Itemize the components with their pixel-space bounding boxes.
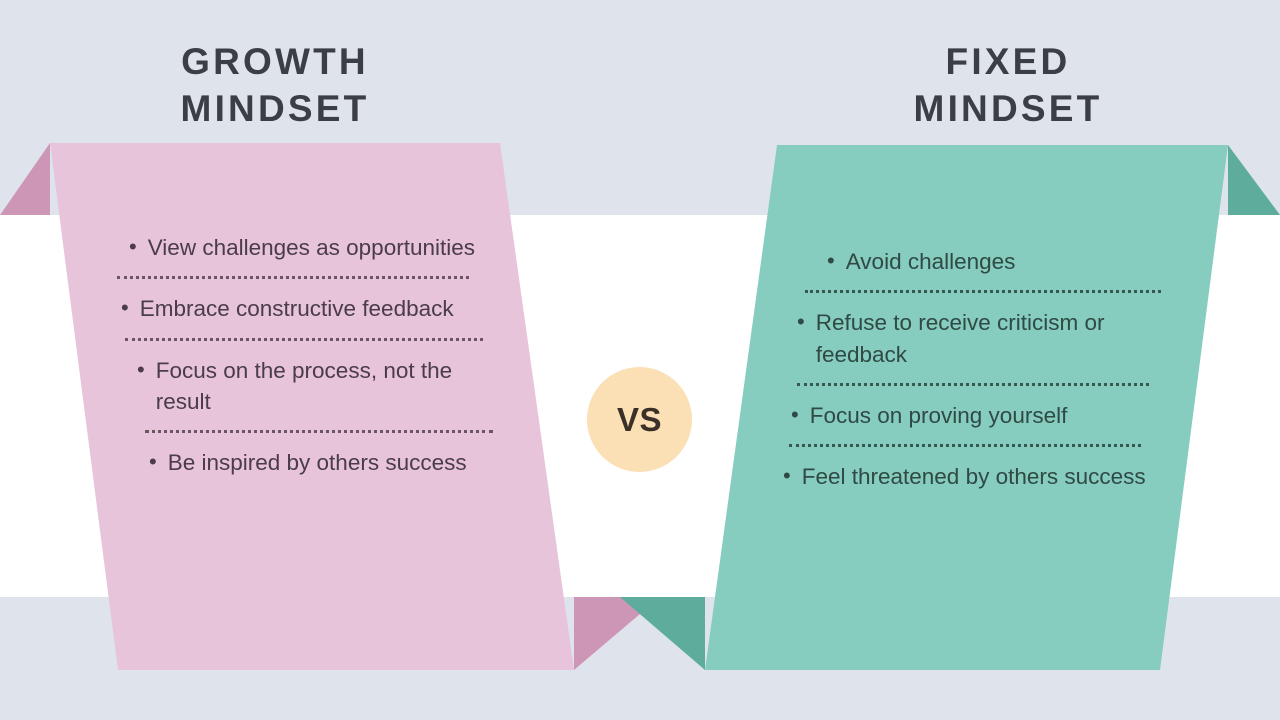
bullet-icon: • [827,246,835,277]
list-separator [789,444,1141,447]
list-item-text: Refuse to receive criticism or feedback [816,307,1173,370]
list-separator [145,430,493,433]
infographic-canvas: GROWTH MINDSET FIXED MINDSET • View chal… [0,0,1280,720]
list-separator [805,290,1161,293]
list-item-text: Feel threatened by others success [802,461,1173,492]
vs-label: VS [617,401,662,439]
list-item-text: View challenges as opportunities [148,232,493,263]
list-item: • Refuse to receive criticism or feedbac… [783,307,1173,370]
bullet-icon: • [797,307,805,338]
list-separator [797,383,1149,386]
bullet-icon: • [137,355,145,386]
bullet-icon: • [783,461,791,492]
list-item: • Focus on proving yourself [783,400,1173,431]
list-item-text: Focus on the process, not the result [156,355,493,418]
list-item: • Avoid challenges [783,246,1173,277]
growth-mindset-list: • View challenges as opportunities • Emb… [103,232,493,478]
list-item: • Embrace constructive feedback [103,293,493,324]
growth-mindset-title: GROWTH MINDSET [75,38,475,133]
bullet-icon: • [149,447,157,478]
list-item: • Be inspired by others success [103,447,493,478]
fixed-mindset-title: FIXED MINDSET [808,38,1208,133]
list-item: • View challenges as opportunities [103,232,493,263]
list-separator [125,338,483,341]
list-item: • Focus on the process, not the result [103,355,493,418]
list-separator [117,276,469,279]
list-item-text: Be inspired by others success [168,447,493,478]
fixed-banner-top-fold [1228,145,1280,215]
growth-banner-top-fold [0,143,50,215]
list-item-text: Embrace constructive feedback [140,293,493,324]
list-item-text: Avoid challenges [846,246,1173,277]
list-item: • Feel threatened by others success [783,461,1173,492]
fixed-mindset-list: • Avoid challenges • Refuse to receive c… [783,246,1173,492]
bullet-icon: • [791,400,799,431]
bullet-icon: • [129,232,137,263]
bullet-icon: • [121,293,129,324]
list-item-text: Focus on proving yourself [810,400,1173,431]
vs-badge: VS [587,367,692,472]
